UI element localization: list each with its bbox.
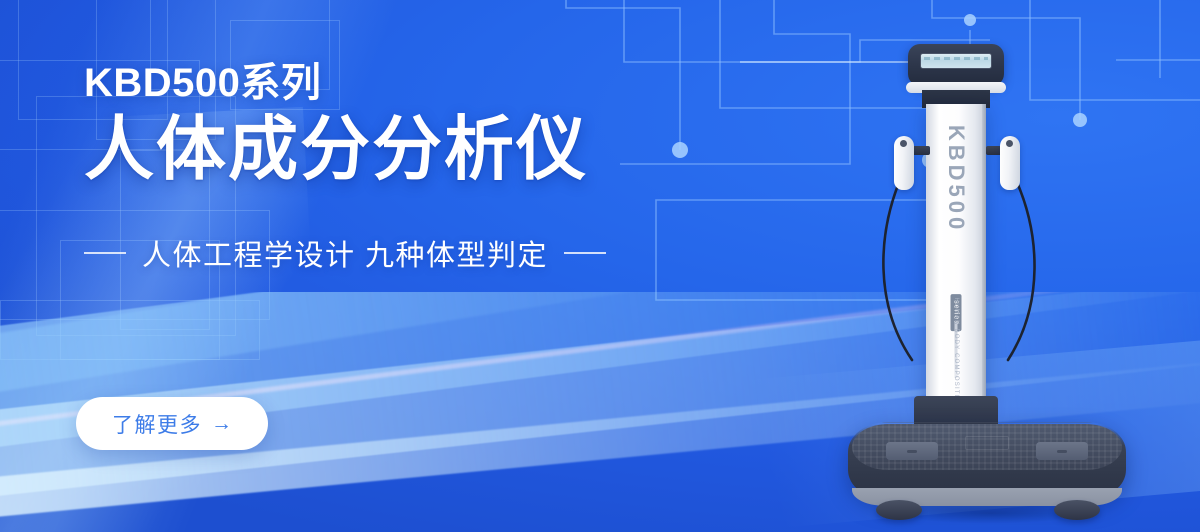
dash-left-icon: [84, 252, 126, 254]
device-handle-left: [894, 128, 916, 190]
handle-button-left: [900, 140, 907, 147]
dash-right-icon: [564, 252, 606, 254]
arrow-right-icon: →: [211, 413, 232, 434]
handle-button-right: [1006, 140, 1013, 147]
product-banner: KBD500系列 人体成分分析仪 人体工程学设计 九种体型判定 了解更多 → K…: [0, 0, 1200, 532]
foot-electrode-left: [886, 442, 938, 460]
subtitle-row: 人体工程学设计 九种体型判定: [84, 232, 704, 274]
device-handle-right: [1000, 128, 1022, 190]
learn-more-label: 了解更多: [112, 409, 202, 439]
headline-text: 人体成分分析仪: [84, 110, 704, 188]
device-cables: [838, 164, 1138, 384]
platform-foot-left: [876, 500, 922, 520]
copy-block: KBD500系列 人体成分分析仪 人体工程学设计 九种体型判定: [84, 62, 704, 274]
screen-content: [924, 57, 988, 60]
platform-center-marking: [965, 436, 1009, 450]
foot-electrode-right: [1036, 442, 1088, 460]
ribbon-5: [0, 292, 813, 404]
device-display-head: [908, 44, 1004, 86]
subtitle-text: 人体工程学设计 九种体型判定: [142, 232, 548, 274]
platform-foot-right: [1054, 500, 1100, 520]
eyebrow-text: KBD500系列: [84, 62, 704, 104]
device-screen: [920, 53, 992, 69]
device-image: KBD500 series HUMAN BODY COMPOSITION ANA…: [838, 44, 1138, 532]
learn-more-button[interactable]: 了解更多 →: [76, 397, 268, 450]
